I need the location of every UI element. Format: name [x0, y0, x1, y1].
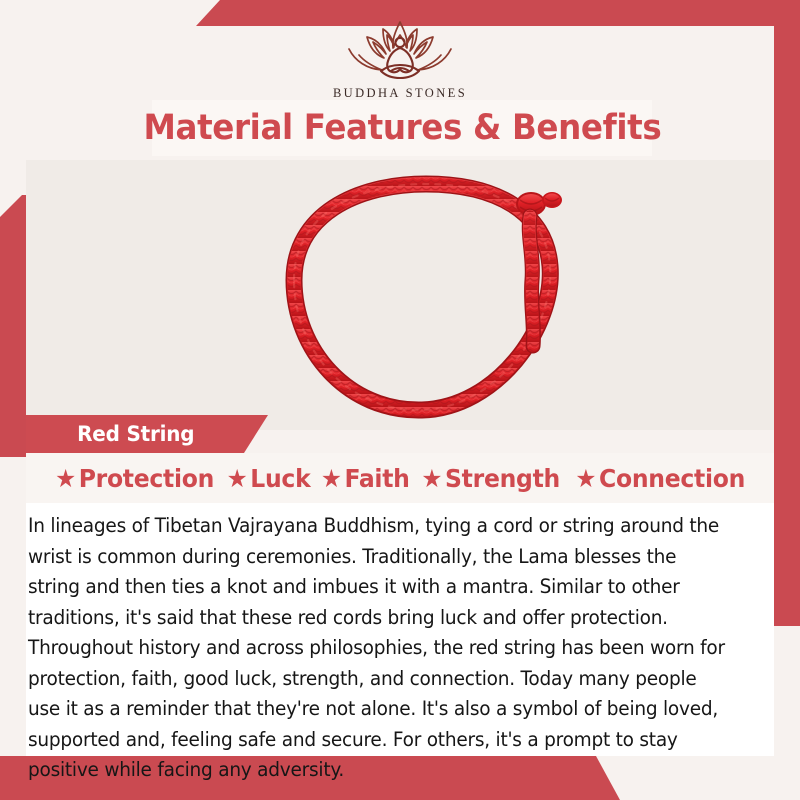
material-ribbon: Red String: [26, 415, 268, 453]
feature-band: ★ Protection ★ Luck ★ Faith ★ Strength ★…: [26, 453, 774, 503]
feature-item-strength: ★ Strength: [422, 464, 561, 493]
infographic-page: BUDDHA STONES Material Features & Benefi…: [0, 0, 800, 800]
feature-label: Luck: [250, 464, 310, 493]
star-icon: ★: [321, 466, 342, 491]
star-icon: ★: [227, 466, 248, 491]
feature-label: Connection: [599, 464, 745, 493]
feature-label: Faith: [344, 464, 409, 493]
description-panel: In lineages of Tibetan Vajrayana Buddhis…: [26, 503, 774, 756]
product-photo: [26, 160, 774, 430]
material-name: Red String: [77, 422, 194, 446]
lotus-meditation-icon: [325, 18, 475, 84]
brand-logo: BUDDHA STONES: [0, 18, 800, 101]
feature-label: Protection: [78, 464, 213, 493]
star-icon: ★: [422, 466, 443, 491]
feature-label: Strength: [445, 464, 560, 493]
feature-item-protection: ★ Protection: [55, 464, 214, 493]
title-banner: Material Features & Benefits: [152, 100, 652, 156]
feature-item-faith: ★ Faith: [321, 464, 410, 493]
decor-right-red-bar: [774, 26, 800, 626]
page-title: Material Features & Benefits: [143, 108, 661, 148]
description-text: In lineages of Tibetan Vajrayana Buddhis…: [28, 511, 731, 786]
star-icon: ★: [575, 466, 596, 491]
feature-item-connection: ★ Connection: [575, 464, 745, 493]
feature-list: ★ Protection ★ Luck ★ Faith ★ Strength ★…: [50, 464, 751, 493]
red-string-bracelet-image: [26, 160, 774, 430]
brand-wordmark: BUDDHA STONES: [333, 86, 467, 101]
feature-item-luck: ★ Luck: [227, 464, 311, 493]
star-icon: ★: [55, 466, 76, 491]
